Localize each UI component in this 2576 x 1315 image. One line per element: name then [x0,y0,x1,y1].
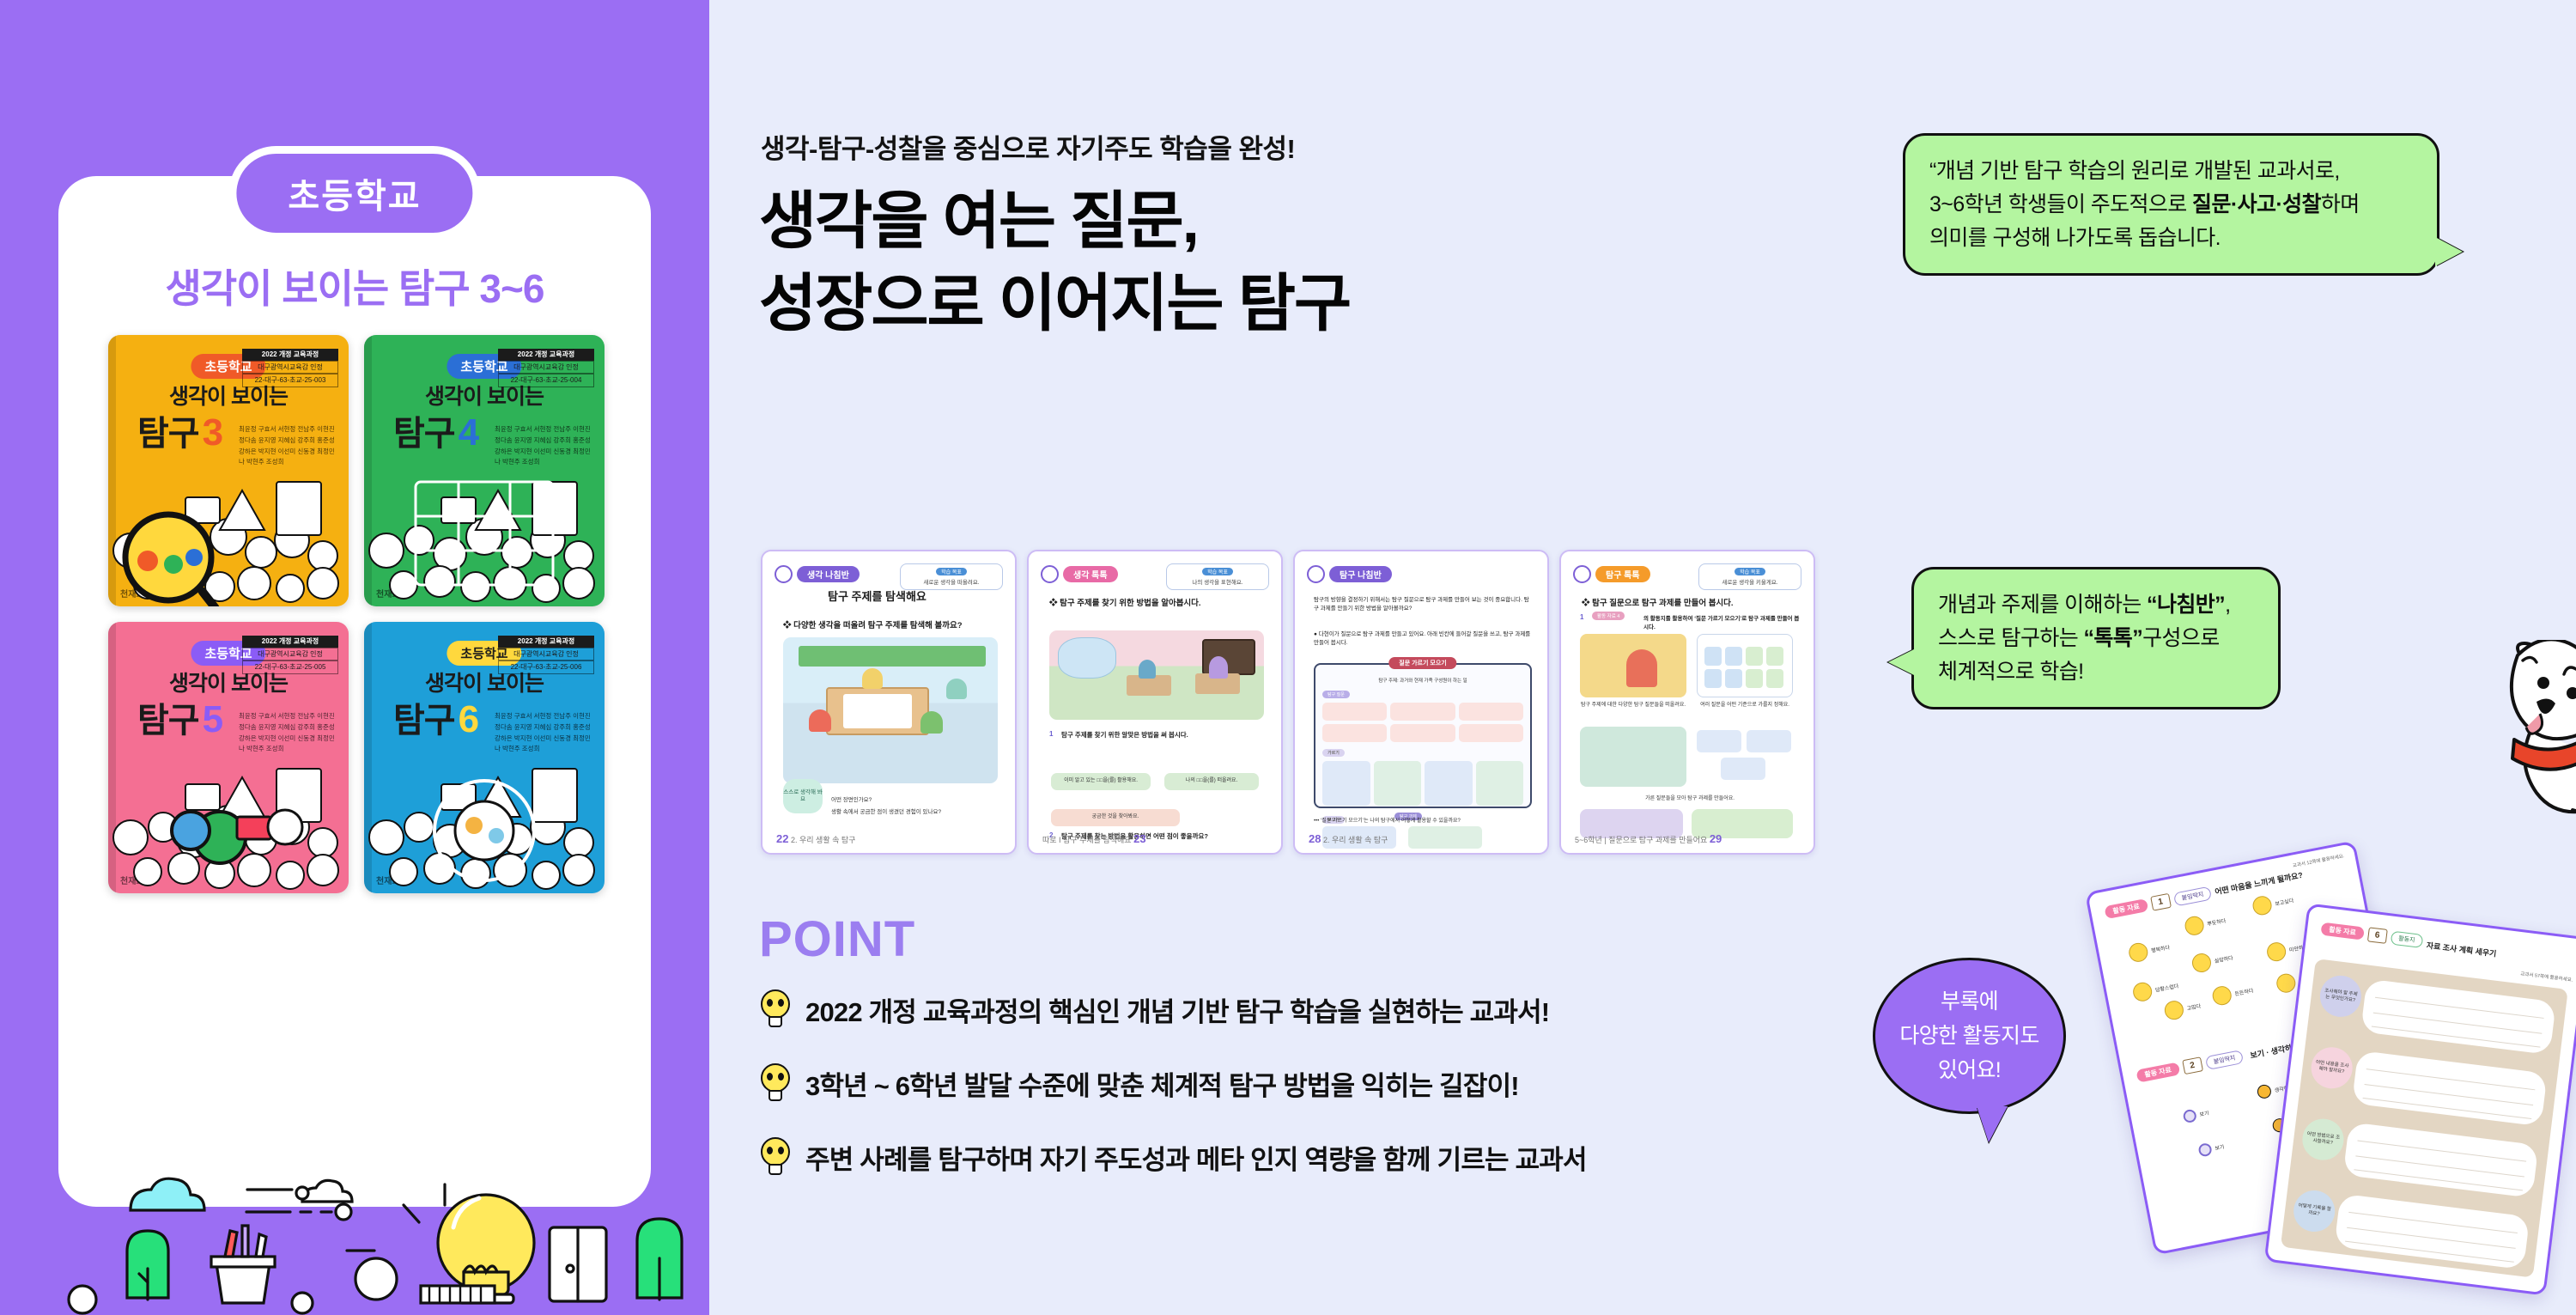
point-item-text: 주변 사례를 탐구하며 자기 주도성과 메타 인지 역량을 함께 기르는 교과서 [805,1138,1587,1177]
thumb-note-1: 학습 목표새로운 생각을 떠올려요. [900,563,1003,590]
thumb-note-badge: 학습 목표 [936,568,967,575]
lightbulb-icon [759,1137,792,1177]
decorative-line-art-scene [0,1100,709,1315]
thumb-chip-3: 궁금한 것을 찾아봐요. [1051,809,1180,826]
observe-lens-icon-3: 보기 [2197,1140,2225,1157]
worksheet-answer-area-1[interactable] [2360,978,2556,1055]
thumb-tag-icon [1041,565,1059,583]
point-item-3: 주변 사례를 탐구하며 자기 주도성과 메타 인지 역량을 함께 기르는 교과서 [759,1137,1587,1177]
bubble-mid-l2a: 스스로 탐구하는 [1938,626,2084,650]
thumb-cap-2: 여러 질문을 어떤 기준으로 가를지 정해요. [1697,703,1793,709]
thumb-page-number: 28 [1309,832,1321,845]
thumb-tag-label: 생각 나침반 [797,566,860,582]
thumb-tag-label: 탐구 나침반 [1329,566,1392,582]
bubble-top-line-1: “개념 기반 탐구 학습의 원리로 개발된 교과서로, [1929,155,2413,188]
thumb-footer-2: 따로 I 탐구 주제를 탐색해요 23 [1042,832,1146,845]
thumb-reflect-q1: 어떤 장면인가요? [831,794,872,803]
left-purple-panel: 초등학교 생각이 보이는 탐구 3~6 초등학교 생각이 보이는 탐구3 202… [0,0,709,1315]
bubble-mid-l1c: , [2225,593,2230,617]
thumb-footer-1: 22 2. 우리 생활 속 탐구 [776,832,855,845]
emoji-label-7: 고맙다 [2186,1001,2202,1012]
thumb-page-number: 29 [1710,832,1722,845]
sheet-a-pill-2: 활동 자료 [2136,1062,2180,1082]
book-approval-stamp: 2022 개정 교육과정 대구광역시교육감 인정 22-대구-63-초교-25-… [242,636,338,674]
purple-bubble-line-2: 다양한 활동지도 [1899,1019,2038,1053]
emoji-sticker-8 [2211,984,2233,1007]
point-section-title: POINT [759,910,915,968]
thumb-illustration-2 [1049,630,1264,720]
emoji-sticker-6 [2265,941,2287,963]
bubble-mid-l2c: 구성으로 [2142,626,2220,650]
thumb-footer-4: 5~6학년 | 질문으로 탐구 과제를 만들어요 29 [1575,832,1722,845]
thumb-tag-3: 탐구 나침반 [1307,565,1392,583]
thumb-tag-icon [775,565,793,583]
sheet-a-cap-2: 붙임딱지 [2204,1049,2244,1069]
thumb-tag-1: 생각 나침반 [775,565,860,583]
emoji-sticker-1 [2127,941,2149,964]
sheet-a-ref-1: 교과서 12쪽에 활용하세요. [2292,852,2345,869]
thumb-bottom-q: ••• ‘질문 가르기 모으기’는 나의 탐구에서 어떻게 활용할 수 있을까요… [1314,816,1532,824]
thumb-intro: 탐구의 방향을 결정하기 위해서는 탐구 질문으로 탐구 과제를 만들어 보는 … [1314,596,1532,614]
worksheet-prompt-4: 어떻게 기록을 할까요? [2291,1188,2336,1233]
book-approval-stamp: 2022 개정 교육과정 대구광역시교육감 인정 22-대구-63-초교-25-… [498,349,594,387]
thumb-reflect-badge: 스스로 생각해 봐요 [783,779,823,813]
sheet-b-ref: 교과서 57쪽에 활용하세요. [2520,970,2573,983]
thumb-illus-4a [1580,634,1686,697]
purple-speech-bubble: 부록에 다양한 활동지도 있어요! [1873,958,2066,1114]
emoji-label-2: 뿌듯하다 [2207,916,2227,928]
bubble-mid-line-2: 스스로 탐구하는 “톡톡”구성으로 [1938,622,2254,655]
thumb-note-badge: 학습 목표 [1735,568,1765,575]
activity-sheet-worksheet: 활동 자료 6 활동지 자료 조사 계획 세우기 교과서 57쪽에 활용하세요.… [2264,903,2576,1295]
book-cover-4[interactable]: 초등학교 생각이 보이는 탐구4 2022 개정 교육과정 대구광역시교육감 인… [364,335,605,606]
point-list: 2022 개정 교육과정의 핵심인 개념 기반 탐구 학습을 실현하는 교과서!… [759,989,1587,1211]
thumb-step-badge-4: 활동 자료 4 [1592,612,1625,620]
thumb-cap-3: 가른 질문들을 모아 탐구 과제를 만들어요. [1580,794,1800,801]
sheet-a-num-2: 2 [2182,1056,2203,1075]
bubble-mid-line-3: 체계적으로 학습! [1938,655,2254,689]
emoji-sticker-5 [2190,952,2213,974]
emoji-label-8: 든든하다 [2234,986,2254,997]
purple-bubble-tail-icon [1977,1106,2008,1142]
sheet-b-pill: 활동 자료 [2320,922,2364,941]
point-item-text: 3학년 ~ 6학년 발달 수준에 맞춘 체계적 탐구 방법을 익히는 길잡이! [805,1064,1519,1103]
thumb-question-4: ❖ 탐구 질문으로 탐구 과제를 만들어 봅시다. [1582,596,1734,608]
bubble-top-line-2: 3~6학년 학생들이 주도적으로 질문·사고·성찰하며 [1929,188,2413,222]
sheet-b-tag: 활동 자료 6 활동지 [2320,922,2423,948]
bubble-mid-line-1: 개념과 주제를 이해하는 “나침반”, [1938,588,2254,622]
worksheet-answer-area-3[interactable] [2343,1122,2539,1198]
page-preview-strip: 생각 나침반 탐구 주제를 탐색해요 ❖ 다양한 생각을 떠올려 탐구 주제를 … [761,550,1815,855]
sheet-a-num-1: 1 [2150,893,2172,911]
thumb-illus-4c [1580,727,1686,787]
lightbulb-icon [759,1063,792,1103]
thumb-chip-1: 이미 알고 있는 □□을(를) 활용해요. [1051,773,1151,790]
emoji-label-4: 당황스럽다 [2154,982,2179,994]
thumb-question-3: ● 다현이가 질문으로 탐구 과제를 만들고 있어요. 아래 빈칸에 들어갈 질… [1314,630,1532,648]
book-cover-5[interactable]: 초등학교 생각이 보이는 탐구5 2022 개정 교육과정 대구광역시교육감 인… [108,622,349,893]
emoji-label-3: 보고싶다 [2275,896,2294,907]
observe-lens-icon-1: 보기 [2182,1106,2209,1123]
thumb-step-1: 탐구 주제를 찾기 위한 알맞은 방법을 써 봅시다. [1061,730,1188,740]
thumb-footer-3: 28 2. 우리 생활 속 탐구 [1309,832,1388,845]
headline-line-2: 성장으로 이어지는 탐구 [759,263,1350,345]
right-content-area: 생각-탐구-성찰을 중심으로 자기주도 학습을 완성! 생각을 여는 질문, 성… [709,0,2576,1315]
emoji-sticker-9 [2275,972,2297,995]
worksheet-answer-area-4[interactable] [2334,1194,2530,1270]
thumb-note-2: 학습 목표나의 생각을 표현해요. [1166,563,1269,590]
book-cover-illustration [108,447,349,606]
headline-line-1: 생각을 여는 질문, [759,180,1350,263]
thumb-note-badge: 학습 목표 [1202,568,1233,575]
worksheet-prompt-1: 조사해야 할 주제는 무엇인가요? [2318,973,2363,1019]
purple-bubble-line-1: 부록에 [1899,984,2038,1019]
hero-headline: 생각을 여는 질문, 성장으로 이어지는 탐구 [759,180,1350,346]
point-item-1: 2022 개정 교육과정의 핵심인 개념 기반 탐구 학습을 실현하는 교과서! [759,989,1587,1029]
emoji-label-1: 행복하다 [2150,943,2170,954]
bubble-top-line-3: 의미를 구성해 나가도록 돕습니다. [1929,222,2413,255]
emoji-label-5: 실망하다 [2214,953,2233,965]
thumb-tag-4: 탐구 톡톡 [1573,565,1650,583]
thumb-chips-4 [1697,730,1793,783]
sheet-b-num: 6 [2367,927,2388,944]
hero-eyebrow: 생각-탐구-성찰을 중심으로 자기주도 학습을 완성! [761,127,1295,166]
bubble-mid-l1b: “나침반” [2147,593,2225,617]
page-preview-2[interactable]: 생각 톡톡 ❖ 탐구 주제를 찾기 위한 방법을 알아봅시다. 학습 목표나의 … [1027,550,1283,855]
sheet-b-cap: 활동지 [2390,930,2423,947]
sheet-a-cap-1: 붙임딱지 [2172,886,2212,906]
page-preview-1[interactable]: 생각 나침반 탐구 주제를 탐색해요 ❖ 다양한 생각을 떠올려 탐구 주제를 … [761,550,1017,855]
thumb-tag-icon [1307,565,1325,583]
thumb-tag-label: 탐구 톡톡 [1595,566,1650,582]
worksheet-answer-area-2[interactable] [2352,1050,2548,1127]
point-item-2: 3학년 ~ 6학년 발달 수준에 맞춘 체계적 탐구 방법을 익히는 길잡이! [759,1063,1587,1103]
thumb-step-1-num: 1 [1049,730,1053,738]
purple-bubble-line-3: 있어요! [1899,1053,2038,1087]
thumb-illustration-1 [783,637,998,783]
sheet-a-tag-1: 활동 자료 1 붙임딱지 [2104,886,2212,921]
thumb-cap-1: 탐구 주제에 대한 다양한 탐구 질문들을 떠올려요. [1580,703,1686,709]
bubble-mid-l1a: 개념과 주제를 이해하는 [1938,593,2147,617]
thumb-page-number: 22 [776,832,788,845]
book-cover-illustration [108,734,349,893]
thumb-chip-2: 나의 □□을(를) 떠올려요. [1164,773,1259,790]
sheet-a-title-1: 어떤 마음을 느끼게 될까요? [2214,869,2304,898]
bubble-top-l2a: 3~6학년 학생들이 주도적으로 [1929,192,2192,216]
thumb-step-text-4: 의 활동지를 활용하여 ‘질문 가르기 모으기’로 탐구 과제를 만들어 봅시다… [1643,613,1800,630]
thumb-tag-label: 생각 톡톡 [1063,566,1118,582]
green-speech-bubble-mid: 개념과 주제를 이해하는 “나침반”, 스스로 탐구하는 “톡톡”구성으로 체계… [1911,567,2281,709]
emoji-sticker-2 [2184,915,2206,937]
bubble-mid-l2b: “톡톡” [2084,626,2143,650]
school-level-badge: 초등학교 [228,146,480,240]
page-preview-4[interactable]: 탐구 톡톡 ❖ 탐구 질문으로 탐구 과제를 만들어 봅시다. 학습 목표새로운… [1559,550,1815,855]
emoji-sticker-4 [2131,981,2154,1003]
thumb-illus-4b [1697,634,1793,697]
series-title: 생각이 보이는 탐구 3~6 [0,258,709,314]
promo-page: 초등학교 생각이 보이는 탐구 3~6 초등학교 생각이 보이는 탐구3 202… [0,0,2576,1315]
book-cover-illustration [364,447,605,606]
sheet-a-pill-1: 활동 자료 [2104,898,2148,919]
bubble-tail-icon [2435,237,2463,266]
thumb-note-4: 학습 목표새로운 생각을 키울게요. [1698,563,1801,590]
sheet-b-body: 조사해야 할 주제는 무엇인가요?어떤 내용을 조사해야 할까요?어떤 방법으로… [2281,959,2568,1278]
emoji-sticker-7 [2163,999,2185,1021]
emoji-sticker-3 [2251,894,2274,916]
worksheet-prompt-3: 어떤 방법으로 조사할까요? [2300,1117,2346,1162]
thumb-reflect-q2: 생활 속에서 궁금한 점이 생겼던 경험이 있나요? [831,807,941,815]
book-cover-illustration [364,734,605,893]
thumb-page-number: 23 [1133,832,1145,845]
lightbulb-icon [759,989,792,1029]
point-item-text: 2022 개정 교육과정의 핵심인 개념 기반 탐구 학습을 실현하는 교과서! [805,990,1549,1029]
book-approval-stamp: 2022 개정 교육과정 대구광역시교육감 인정 22-대구-63-초교-25-… [242,349,338,387]
book-cover-grid: 초등학교 생각이 보이는 탐구3 2022 개정 교육과정 대구광역시교육감 인… [108,335,606,893]
thumb-tag-2: 생각 톡톡 [1041,565,1118,583]
green-speech-bubble-top: “개념 기반 탐구 학습의 원리로 개발된 교과서로, 3~6학년 학생들이 주… [1903,133,2439,276]
book-cover-6[interactable]: 초등학교 생각이 보이는 탐구6 2022 개정 교육과정 대구광역시교육감 인… [364,622,605,893]
thumb-step-num-4: 1 [1580,613,1583,621]
bubble-top-l2c: 하며 [2321,192,2360,216]
bubble-top-l2b: 질문·사고·성찰 [2192,192,2321,216]
bubble-tail-icon [1888,648,1916,676]
book-approval-stamp: 2022 개정 교육과정 대구광역시교육감 인정 22-대구-63-초교-25-… [498,636,594,674]
book-cover-3[interactable]: 초등학교 생각이 보이는 탐구3 2022 개정 교육과정 대구광역시교육감 인… [108,335,349,606]
thumb-tag-icon [1573,565,1591,583]
thumb-board: 질문 가르기 모으기 탐구 주제: 과거와 현재 가족 구성원이 하는 일 탐구… [1314,663,1532,808]
thumb-question-2: ❖ 탐구 주제를 찾기 위한 방법을 알아봅시다. [1049,596,1201,608]
dog-mascot [2494,640,2576,825]
worksheet-prompt-2: 어떤 내용을 조사해야 할까요? [2309,1045,2354,1091]
page-preview-3[interactable]: 탐구 나침반 탐구의 방향을 결정하기 위해서는 탐구 질문으로 탐구 과제를 … [1293,550,1549,855]
sheet-a-tag-2: 활동 자료 2 붙임딱지 [2136,1049,2244,1084]
thumb-question-1: ❖ 다양한 생각을 떠올려 탐구 주제를 탐색해 볼까요? [783,618,963,630]
sheet-b-title: 자료 조사 계획 세우기 [2426,940,2497,959]
